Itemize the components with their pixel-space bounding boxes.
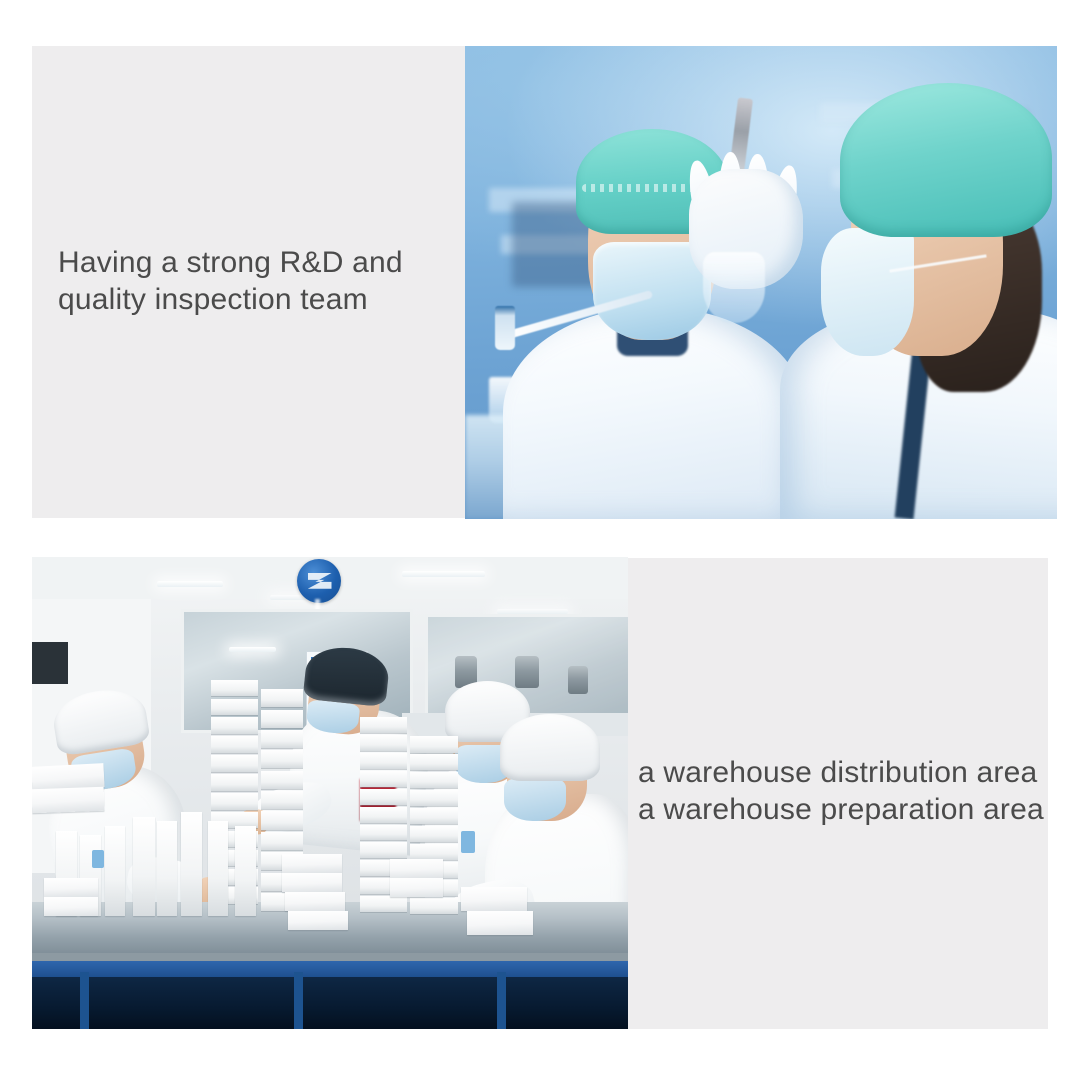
carton bbox=[467, 911, 533, 935]
rnd-caption-panel: Having a strong R&D and quality inspecti… bbox=[32, 46, 465, 518]
gloved-hand-holding-vial bbox=[678, 98, 814, 306]
carton bbox=[32, 787, 104, 813]
hairnet-cap-icon bbox=[840, 83, 1052, 237]
table-leg bbox=[497, 972, 506, 1029]
wall-vent-icon bbox=[32, 642, 68, 684]
under-table-shadow bbox=[32, 977, 628, 1029]
flask-icon bbox=[703, 252, 766, 323]
carton bbox=[105, 826, 125, 916]
carton bbox=[390, 878, 444, 897]
face-mask-icon bbox=[821, 228, 914, 355]
carton bbox=[44, 878, 98, 897]
carton bbox=[390, 859, 444, 878]
canister-icon bbox=[568, 666, 588, 694]
table-leg bbox=[80, 972, 89, 1029]
warehouse-caption-line-2: a warehouse preparation area bbox=[638, 791, 1044, 828]
vial-icon bbox=[495, 306, 515, 350]
blue-tape bbox=[461, 831, 475, 853]
warehouse-caption-line-1: a warehouse distribution area bbox=[638, 754, 1037, 791]
ceiling-light-icon bbox=[229, 647, 277, 652]
hairnet-cap-icon bbox=[500, 714, 599, 781]
slide-canvas: Having a strong R&D and quality inspecti… bbox=[0, 0, 1080, 1080]
rnd-caption-line-1: Having a strong R&D and bbox=[58, 244, 403, 281]
carton bbox=[32, 763, 104, 790]
carton bbox=[461, 887, 527, 911]
lab-quality-inspection-photo bbox=[465, 46, 1057, 519]
carton bbox=[208, 821, 228, 915]
carton bbox=[282, 873, 342, 892]
ceiling-light-icon bbox=[402, 571, 485, 577]
carton bbox=[181, 812, 202, 916]
carton bbox=[44, 897, 98, 916]
ceiling-light-icon bbox=[157, 581, 223, 587]
warehouse-caption-panel: a warehouse distribution area a warehous… bbox=[628, 558, 1048, 1029]
lab-technician-profile bbox=[797, 65, 1057, 519]
face-mask-icon bbox=[504, 778, 566, 822]
rnd-caption-line-2: quality inspection team bbox=[58, 281, 368, 318]
carton bbox=[288, 911, 348, 930]
carton bbox=[133, 817, 154, 916]
blue-circular-sign-icon bbox=[297, 559, 341, 603]
carton bbox=[157, 821, 177, 915]
blue-tape bbox=[92, 850, 104, 868]
carton bbox=[285, 892, 345, 911]
carton bbox=[282, 854, 342, 873]
table-leg bbox=[294, 972, 303, 1029]
hairnet-cap-icon bbox=[303, 644, 390, 707]
carton bbox=[235, 826, 256, 916]
warehouse-packing-photo bbox=[32, 557, 628, 1029]
